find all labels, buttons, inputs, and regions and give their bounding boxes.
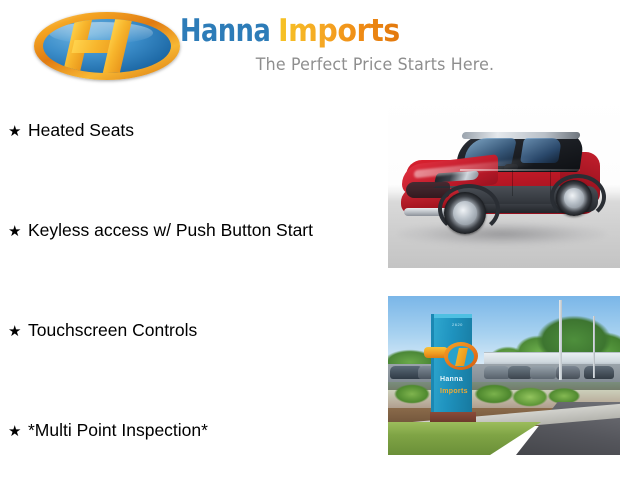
- monument-sign-h-emblem-icon: [444, 342, 478, 370]
- vehicle-photo[interactable]: [388, 94, 620, 268]
- feature-label: *Multi Point Inspection*: [28, 422, 208, 440]
- star-bullet-icon: ★: [8, 124, 28, 139]
- monument-sign-cap: [434, 314, 472, 318]
- brand-wordmark: HannaImports: [180, 14, 530, 48]
- monument-sign-brand-line1: Hanna: [440, 376, 463, 383]
- light-pole: [559, 300, 562, 380]
- star-bullet-icon: ★: [8, 424, 28, 439]
- light-pole: [593, 316, 595, 378]
- vehicle-illustration: [400, 124, 608, 236]
- parked-car: [484, 366, 510, 379]
- feature-label: Touchscreen Controls: [28, 322, 197, 340]
- parked-car: [584, 366, 614, 379]
- dealership-photo[interactable]: 2620 Hanna Imports: [388, 296, 620, 455]
- vehicle-front-wheel: [444, 192, 486, 234]
- list-item: ★ *Multi Point Inspection*: [8, 418, 208, 444]
- vehicle-rear-wheel: [556, 180, 592, 216]
- vehicle-roofline: [462, 132, 581, 139]
- vehicle-door-seam: [512, 170, 513, 196]
- brand-tagline: The Perfect Price Starts Here.: [222, 55, 529, 75]
- star-bullet-icon: ★: [8, 224, 28, 239]
- feature-label: Heated Seats: [28, 122, 134, 140]
- monument-sign: 2620 Hanna Imports: [430, 314, 476, 422]
- page-header: HannaImports The Perfect Price Starts He…: [0, 0, 640, 90]
- monument-sign-brand-line2: Imports: [440, 388, 468, 395]
- brand-wordmark-hanna: Hanna: [180, 14, 270, 48]
- list-item: ★ Heated Seats: [8, 118, 134, 144]
- monument-sign-address: 2620: [452, 322, 463, 327]
- feature-label: Keyless access w/ Push Button Start: [28, 222, 313, 240]
- monument-sign-emblem-field: [448, 346, 474, 367]
- list-item: ★ Touchscreen Controls: [8, 318, 197, 344]
- vehicle-front-wheel-hub: [453, 201, 477, 225]
- parked-car: [508, 366, 532, 379]
- emblem-field: [43, 19, 171, 73]
- brand-wordmark-imports: Imports: [278, 14, 400, 48]
- brand-logo[interactable]: HannaImports The Perfect Price Starts He…: [34, 6, 534, 86]
- monument-sign-emblem-letter: [455, 348, 468, 366]
- star-bullet-icon: ★: [8, 324, 28, 339]
- hanna-oval-h-emblem-icon: [34, 12, 180, 80]
- vehicle-rear-wheel-hub: [564, 188, 584, 208]
- monument-sign-brick-base: [430, 412, 476, 422]
- list-item: ★ Keyless access w/ Push Button Start: [8, 218, 313, 244]
- parked-car: [530, 366, 556, 379]
